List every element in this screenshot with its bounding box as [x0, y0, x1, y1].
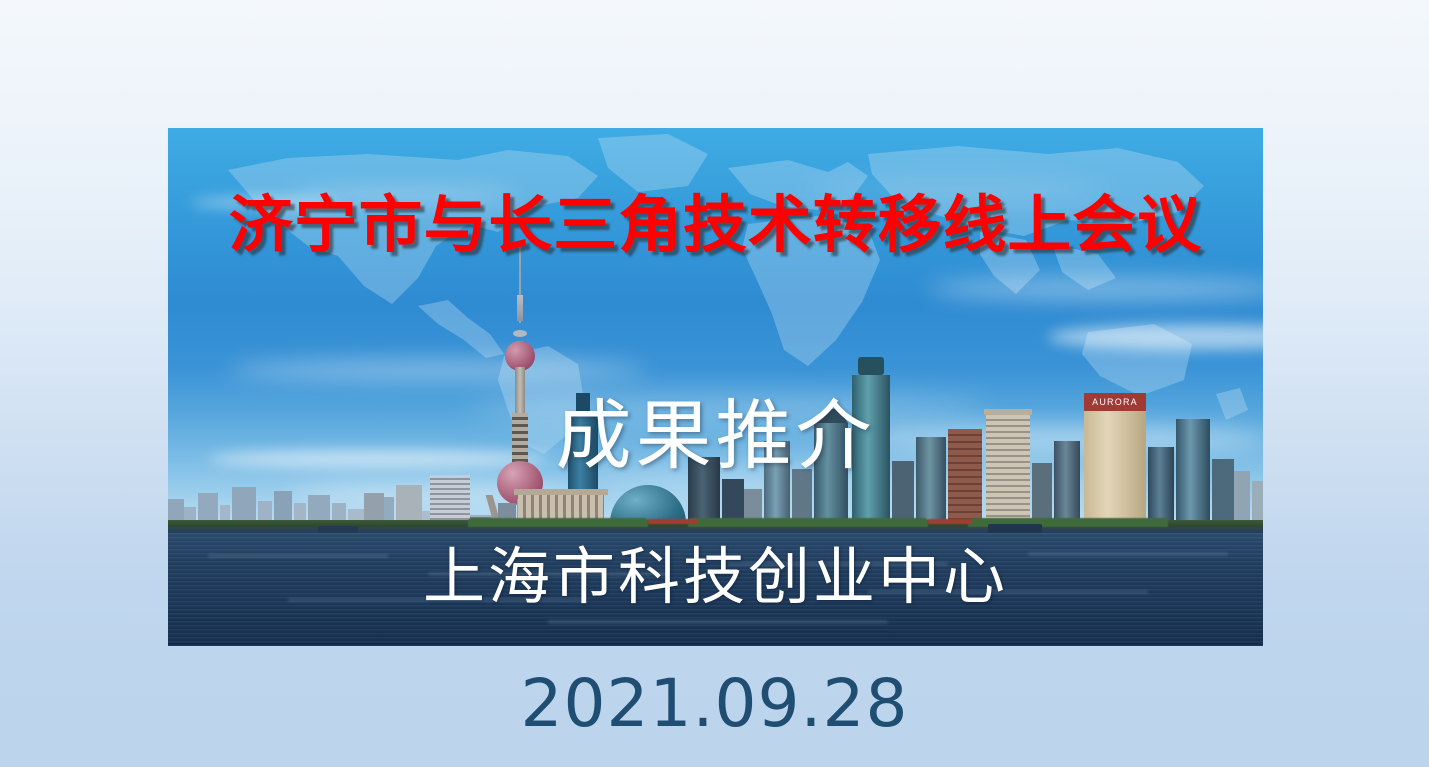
presentation-date: 2021.09.28	[0, 664, 1429, 744]
waterfront-trees	[468, 518, 648, 527]
building-crown	[858, 357, 884, 375]
cloud-streak	[228, 360, 648, 380]
boat	[988, 524, 1042, 533]
headline-text: 成果推介	[168, 392, 1263, 480]
waterfront-roof	[928, 519, 972, 524]
building-cornice	[514, 489, 608, 495]
presentation-slide: AURORA	[0, 0, 1429, 767]
boat	[318, 526, 358, 533]
waterfront-roof	[648, 519, 698, 524]
organization-name: 上海市科技创业中心	[168, 540, 1263, 614]
waterfront-trees	[688, 518, 928, 527]
conference-title: 济宁市与长三角技术转移线上会议	[152, 188, 1280, 262]
